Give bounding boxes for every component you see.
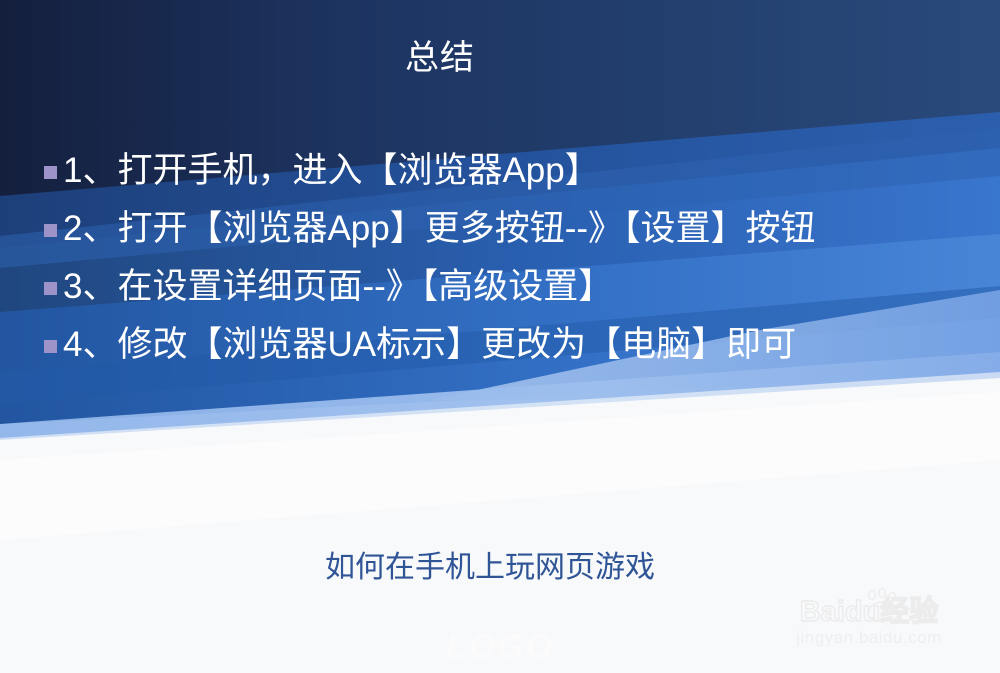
square-bullet-icon: [44, 282, 57, 295]
list-item-label: 2、打开【浏览器App】更多按钮--》【设置】按钮: [63, 207, 816, 251]
list-item-label: 3、在设置详细页面--》【高级设置】: [63, 265, 613, 309]
baidu-paw-icon: [864, 588, 902, 622]
square-bullet-icon: [44, 340, 57, 353]
square-bullet-icon: [44, 224, 57, 237]
list-item-label: 1、打开手机，进入【浏览器App】: [63, 149, 600, 193]
list-item-label: 4、修改【浏览器UA标示】更改为【电脑】即可: [63, 323, 796, 367]
slide-subtitle: 如何在手机上玩网页游戏: [0, 548, 980, 588]
bullet-list: 1、打开手机，进入【浏览器App】 2、打开【浏览器App】更多按钮--》【设置…: [44, 142, 974, 374]
baidu-watermark: Baidu经验 jingyan.baidu.com: [744, 588, 994, 660]
square-bullet-icon: [44, 166, 57, 179]
list-item: 1、打开手机，进入【浏览器App】: [44, 142, 974, 200]
list-item: 3、在设置详细页面--》【高级设置】: [44, 258, 974, 316]
presentation-slide: 总结 1、打开手机，进入【浏览器App】 2、打开【浏览器App】更多按钮--》…: [0, 0, 1000, 673]
page-title: 总结: [0, 36, 880, 80]
list-item: 4、修改【浏览器UA标示】更改为【电脑】即可: [44, 316, 974, 374]
list-item: 2、打开【浏览器App】更多按钮--》【设置】按钮: [44, 200, 974, 258]
watermark-url: jingyan.baidu.com: [744, 628, 994, 648]
